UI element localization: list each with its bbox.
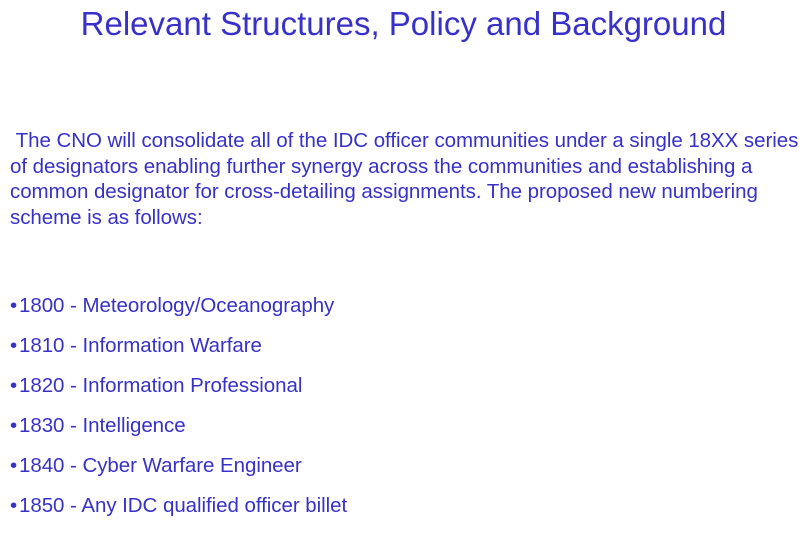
list-item-label: 1840 - Cyber Warfare Engineer [19, 452, 302, 480]
bullet-point-icon: • [10, 412, 19, 440]
list-item-label: 1850 - Any IDC qualified officer billet [19, 492, 347, 520]
slide: Relevant Structures, Policy and Backgrou… [0, 0, 807, 539]
bullet-point-icon: • [10, 492, 19, 520]
designator-bullet-list: • 1800 - Meteorology/Oceanography • 1810… [10, 292, 805, 532]
list-item-label: 1830 - Intelligence [19, 412, 186, 440]
list-item: • 1820 - Information Professional [10, 372, 805, 412]
bullet-point-icon: • [10, 372, 19, 400]
list-item: • 1830 - Intelligence [10, 412, 805, 452]
bullet-point-icon: • [10, 452, 19, 480]
list-item-label: 1800 - Meteorology/Oceanography [19, 292, 334, 320]
intro-paragraph: The CNO will consolidate all of the IDC … [10, 128, 805, 230]
list-item: • 1850 - Any IDC qualified officer bille… [10, 492, 805, 532]
list-item-label: 1820 - Information Professional [19, 372, 302, 400]
bullet-point-icon: • [10, 292, 19, 320]
list-item: • 1810 - Information Warfare [10, 332, 805, 372]
body-text-block: The CNO will consolidate all of the IDC … [10, 128, 805, 230]
bullet-point-icon: • [10, 332, 19, 360]
list-item: • 1800 - Meteorology/Oceanography [10, 292, 805, 332]
page-title: Relevant Structures, Policy and Backgrou… [0, 4, 807, 44]
list-item-label: 1810 - Information Warfare [19, 332, 262, 360]
list-item: • 1840 - Cyber Warfare Engineer [10, 452, 805, 492]
